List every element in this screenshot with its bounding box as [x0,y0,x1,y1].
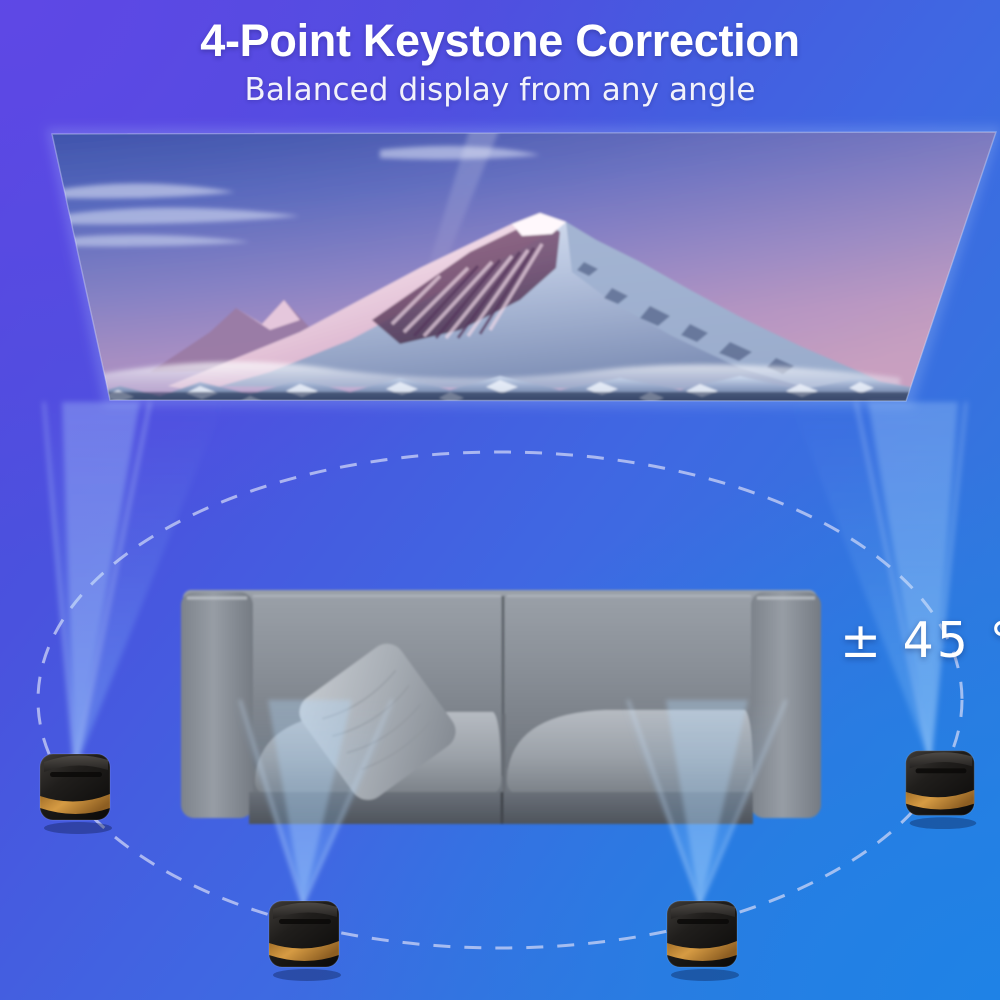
beam-front-left [232,700,400,905]
header-block: 4-Point Keystone Correction Balanced dis… [0,0,1000,108]
projector-front-left[interactable] [259,892,351,982]
page-title: 4-Point Keystone Correction [0,0,1000,65]
projector-rear-left[interactable] [30,746,122,834]
projector-front-right[interactable] [657,892,749,982]
beam-front-right [620,700,790,905]
angle-range-label: ± 45 ° [840,612,1000,669]
projector-rear-right[interactable] [896,742,986,830]
page-subtitle: Balanced display from any angle [0,65,1000,108]
promo-graphic-canvas: 4-Point Keystone Correction Balanced dis… [0,0,1000,1000]
scene-effects-front [0,0,1000,1000]
